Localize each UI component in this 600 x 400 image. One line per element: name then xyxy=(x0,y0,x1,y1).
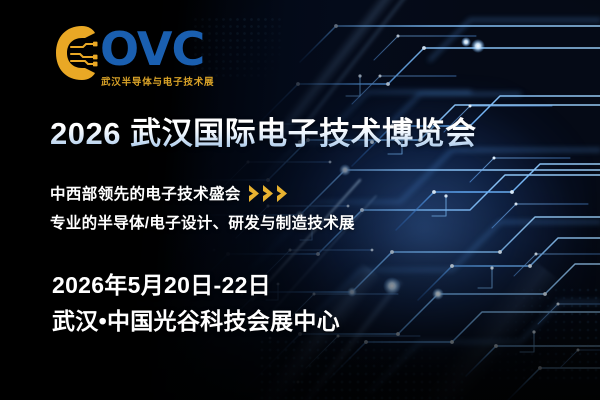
logo-wordmark: OVC xyxy=(100,26,214,72)
event-date: 2026年5月20日-22日 xyxy=(52,266,271,300)
banner-tagline-primary-row: 中西部领先的电子技术盛会 xyxy=(50,182,289,204)
chevron-right-icon xyxy=(276,184,289,203)
chevron-group xyxy=(248,184,289,203)
logo-subtitle: 武汉半导体与电子技术展 xyxy=(101,74,214,88)
event-logo: OVC 武汉半导体与电子技术展 xyxy=(52,24,214,88)
banner-content: OVC 武汉半导体与电子技术展 2026 武汉国际电子技术博览会 中西部领先的电… xyxy=(0,0,600,400)
banner-main-title: 2026 武汉国际电子技术博览会 xyxy=(50,108,477,153)
event-venue: 武汉•中国光谷科技会展中心 xyxy=(52,302,340,336)
chevron-right-icon xyxy=(262,184,275,203)
chevron-right-icon xyxy=(248,184,261,203)
circuit-bulb-logo-icon xyxy=(52,24,98,82)
banner-tagline-primary: 中西部领先的电子技术盛会 xyxy=(50,182,241,204)
event-banner: OVC 武汉半导体与电子技术展 2026 武汉国际电子技术博览会 中西部领先的电… xyxy=(0,0,600,400)
banner-tagline-secondary: 专业的半导体/电子设计、研发与制造技术展 xyxy=(50,211,355,233)
